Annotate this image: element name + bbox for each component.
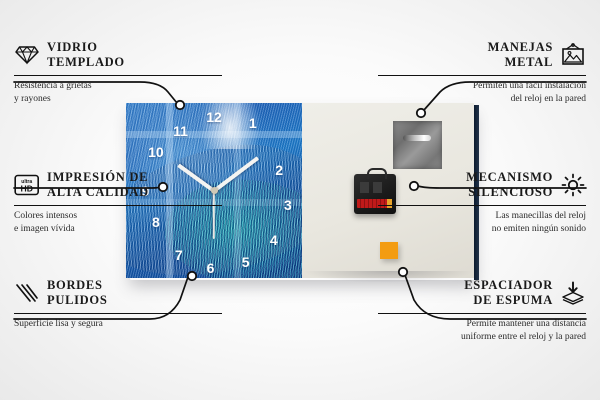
foam-spacer [380, 242, 398, 259]
feature-divider [378, 313, 586, 315]
feature-impresion-alta-calidad: ultra HD IMPRESIÓN DE ALTA CALIDAD Color… [14, 170, 222, 236]
feature-header: MANEJAS METAL [378, 40, 586, 71]
arrow-into-layers-icon [560, 281, 586, 305]
feature-bordes-pulidos: BORDES PULIDOS Superficie lisa y segura [14, 278, 222, 331]
feature-divider [378, 75, 586, 77]
feature-title-line2: ALTA CALIDAD [47, 185, 149, 199]
feature-title-line1: IMPRESIÓN DE [47, 170, 148, 184]
feature-title: VIDRIO TEMPLADO [47, 40, 125, 71]
feature-title: MANEJAS METAL [488, 40, 553, 71]
feature-description: Permiten una fácil instalación del reloj… [378, 80, 586, 106]
feature-header: VIDRIO TEMPLADO [14, 40, 222, 71]
feature-title-line2: SILENCIOSO [468, 185, 553, 199]
feature-desc-line2: e imagen vívida [14, 224, 75, 234]
clock-numeral-2: 2 [275, 163, 283, 177]
feature-desc-line1: Superficie lisa y segura [14, 319, 103, 329]
feature-title-line1: ESPACIADOR [464, 278, 553, 292]
feature-desc-line1: Las manecillas del reloj [496, 211, 586, 221]
feature-manejas-metal: MANEJAS METAL Permiten una fácil instala… [378, 40, 586, 106]
diagonal-lines-icon [14, 281, 40, 305]
feature-header: ESPACIADOR DE ESPUMA [378, 278, 586, 309]
feature-description: Colores intensos e imagen vívida [14, 210, 222, 236]
clock-numeral-10: 10 [148, 145, 164, 159]
feature-title-line2: PULIDOS [47, 293, 107, 307]
feature-divider [378, 205, 586, 207]
ultra-hd-icon: ultra HD [14, 173, 40, 197]
clock-numeral-4: 4 [270, 233, 278, 247]
clock-numeral-12: 12 [206, 110, 222, 124]
feature-title: BORDES PULIDOS [47, 278, 107, 309]
feature-title: ESPACIADOR DE ESPUMA [464, 278, 553, 309]
feature-divider [14, 205, 222, 207]
clock-numeral-1: 1 [249, 116, 257, 130]
feature-desc-line2: del reloj en la pared [511, 94, 586, 104]
feature-title-line2: TEMPLADO [47, 55, 125, 69]
feature-espaciador-espuma: ESPACIADOR DE ESPUMA Permite mantener un… [378, 278, 586, 344]
feature-title-line1: MECANISMO [466, 170, 553, 184]
feature-title-line2: METAL [505, 55, 553, 69]
feature-description: Resistencia a grietas y rayones [14, 80, 222, 106]
clock-numeral-5: 5 [242, 255, 250, 269]
clock-numeral-3: 3 [284, 198, 292, 212]
infographic-canvas: 12 1 2 3 4 5 6 7 8 9 10 11 [0, 0, 600, 400]
gear-icon [560, 173, 586, 197]
feature-header: BORDES PULIDOS [14, 278, 222, 309]
feature-desc-line2: no emiten ningún sonido [492, 224, 586, 234]
feature-title: MECANISMO SILENCIOSO [466, 170, 553, 201]
feature-desc-line1: Resistencia a grietas [14, 81, 92, 91]
clock-numeral-6: 6 [207, 261, 215, 275]
feature-mecanismo-silencioso: MECANISMO SILENCIOSO Las manecillas del … [378, 170, 586, 236]
feature-title-line1: MANEJAS [488, 40, 553, 54]
feature-title-line1: BORDES [47, 278, 103, 292]
picture-frame-icon [560, 43, 586, 67]
metal-hanger-plate [393, 121, 442, 169]
feature-title: IMPRESIÓN DE ALTA CALIDAD [47, 170, 149, 201]
feature-title-line1: VIDRIO [47, 40, 98, 54]
feature-header: ultra HD IMPRESIÓN DE ALTA CALIDAD [14, 170, 222, 201]
svg-text:HD: HD [20, 184, 32, 194]
feature-divider [14, 75, 222, 77]
feature-desc-line2: uniforme entre el reloj y la pared [461, 332, 586, 342]
feature-description: Permite mantener una distancia uniforme … [378, 318, 586, 344]
feature-description: Las manecillas del reloj no emiten ningú… [378, 210, 586, 236]
clock-numeral-7: 7 [175, 248, 183, 262]
clock-numeral-11: 11 [173, 124, 188, 138]
feature-description: Superficie lisa y segura [14, 318, 222, 331]
feature-desc-line1: Permite mantener una distancia [467, 319, 587, 329]
feature-desc-line1: Permiten una fácil instalación [473, 81, 586, 91]
diamond-icon [14, 43, 40, 67]
mechanism-slot-left [360, 182, 369, 193]
feature-desc-line1: Colores intensos [14, 211, 77, 221]
hanger-slot [403, 135, 431, 141]
feature-vidrio-templado: VIDRIO TEMPLADO Resistencia a grietas y … [14, 40, 222, 106]
feature-header: MECANISMO SILENCIOSO [378, 170, 586, 201]
feature-desc-line2: y rayones [14, 94, 51, 104]
feature-title-line2: DE ESPUMA [473, 293, 553, 307]
feature-divider [14, 313, 222, 315]
